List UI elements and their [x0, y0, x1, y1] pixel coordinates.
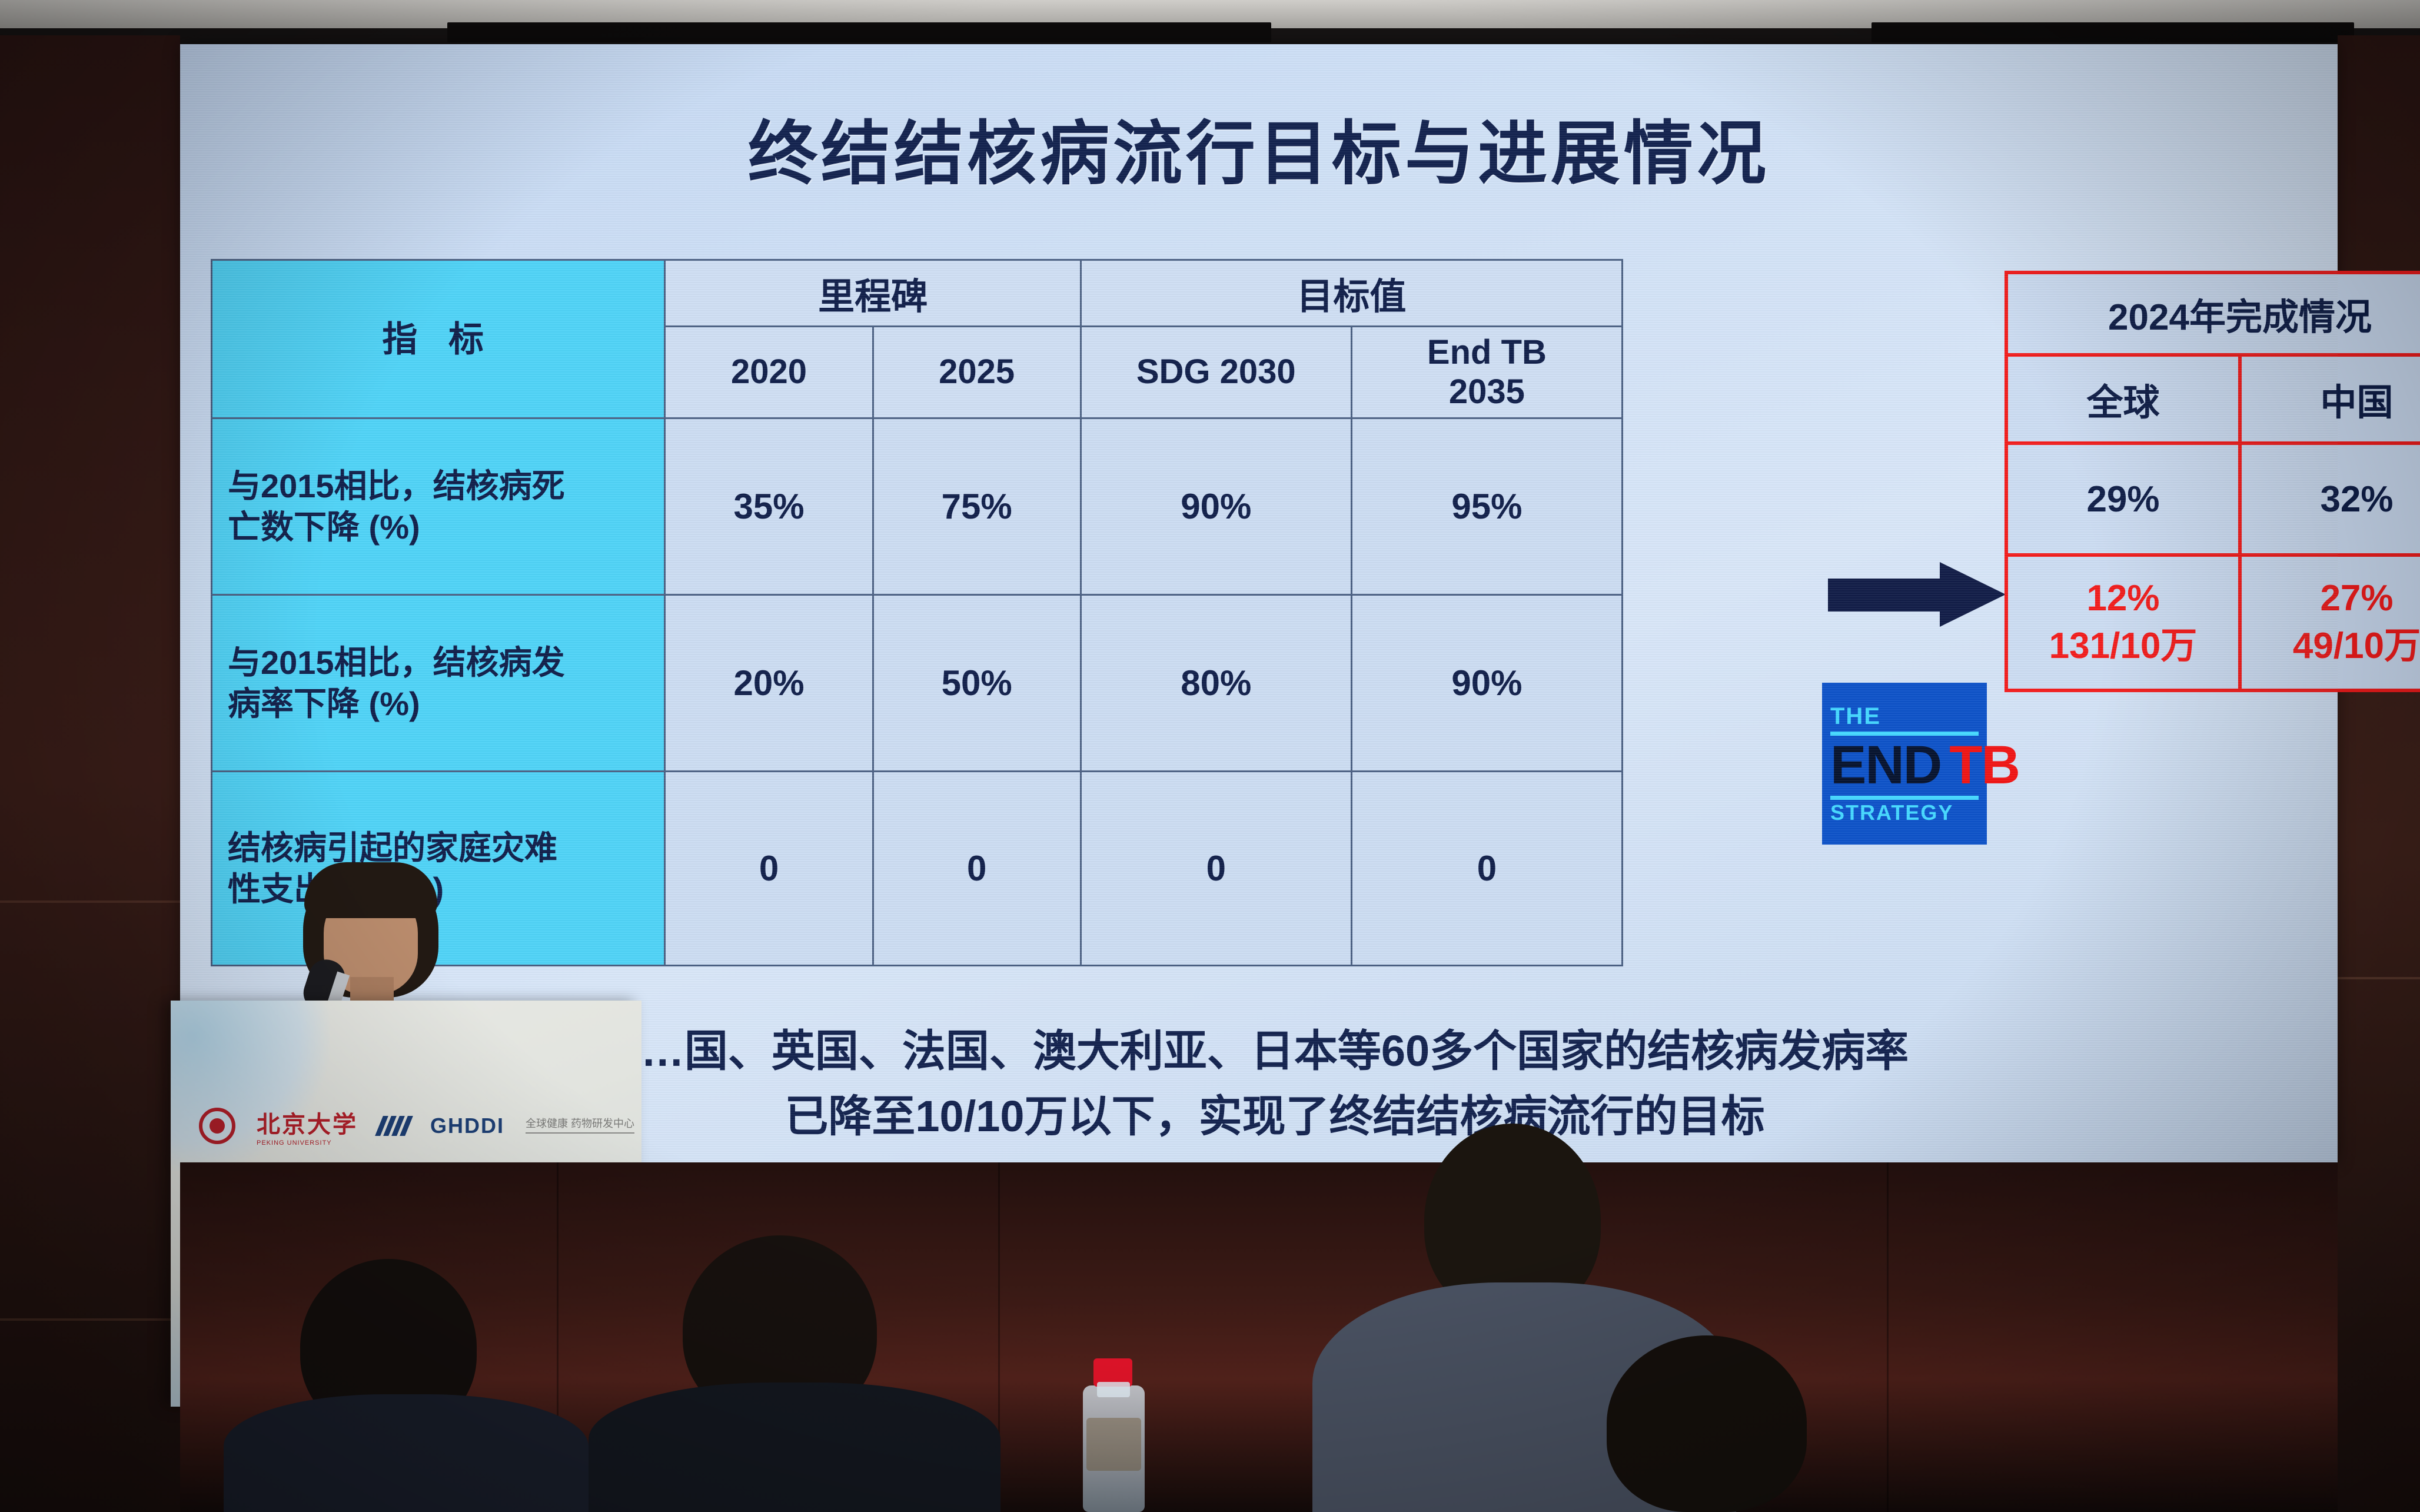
cell-cost-2020: 0 — [665, 772, 873, 966]
global-incidence-rate: 131/10万 — [2049, 626, 2198, 666]
completion-incidence-row: 12% 131/10万 27% 49/10万 — [2006, 555, 2420, 690]
indicator-line-1: 结核病引起的家庭灾难 — [228, 829, 557, 866]
projection-screen: 终结结核病流行目标与进展情况 指 标 里程碑 目标值 2020 2025 SDG… — [180, 44, 2338, 1162]
right-arrow-icon — [1828, 562, 2005, 627]
completion-header-global: 全球 — [2006, 355, 2240, 443]
indicator-line-2: 病率下降 (%) — [228, 685, 420, 722]
completion-title: 2024年完成情况 — [2006, 273, 2420, 355]
china-incidence-pct: 27% — [2320, 578, 2393, 619]
table-row: 与2015相比，结核病死 亡数下降 (%) 35% 75% 90% 95% — [212, 418, 1623, 595]
podium-logo-row: 北京大学 PEKING UNIVERSITY GHDDI 全球健康 药物研发中心 — [199, 1105, 634, 1147]
completion-2024-table: 2024年完成情况 全球 中国 29% 32% 12% 131/10万 27% … — [2005, 271, 2420, 692]
completion-global-incidence: 12% 131/10万 — [2006, 555, 2240, 690]
peking-university-seal-icon — [199, 1108, 235, 1144]
indicator-line-1: 与2015相比，结核病发 — [228, 644, 565, 681]
milestone-table: 指 标 里程碑 目标值 2020 2025 SDG 2030 End TB 20… — [211, 259, 1623, 966]
logo-tb-text: TB — [1949, 738, 2019, 792]
completion-china-incidence: 27% 49/10万 — [2240, 555, 2420, 690]
end-tb-label: End TB — [1427, 333, 1547, 371]
audience-member — [224, 1259, 589, 1512]
sub-header-2025: 2025 — [873, 327, 1081, 418]
group-header-target: 目标值 — [1081, 260, 1622, 327]
group-header-milestone: 里程碑 — [665, 260, 1081, 327]
right-wall — [2338, 35, 2420, 1512]
completion-header-row: 全球 中国 — [2006, 355, 2420, 443]
pku-logo-text: 北京大学 — [257, 1105, 358, 1139]
china-incidence-rate: 49/10万 — [2293, 626, 2420, 666]
cell-incidence-endtb2035: 90% — [1351, 595, 1622, 772]
ceiling-light-strip-right — [1871, 22, 2354, 42]
sub-header-2020: 2020 — [665, 327, 873, 418]
pku-logo-en: PEKING UNIVERSITY — [257, 1139, 358, 1147]
cell-cost-endtb2035: 0 — [1351, 772, 1622, 966]
ceiling-light-strip — [447, 22, 1271, 42]
logo-rule-bottom — [1830, 796, 1979, 800]
left-wall — [0, 35, 180, 1512]
ghddi-mark-icon — [379, 1116, 409, 1136]
slide-title: 终结结核病流行目标与进展情况 — [180, 97, 2338, 198]
logo-the-text: THE — [1830, 705, 1979, 728]
global-incidence-pct: 12% — [2086, 578, 2159, 619]
completion-global-mortality: 29% — [2006, 443, 2240, 555]
cell-incidence-2025: 50% — [873, 595, 1081, 772]
cell-mortality-sdg2030: 90% — [1081, 418, 1351, 595]
sub-header-sdg-2030: SDG 2030 — [1081, 327, 1351, 418]
row-indicator-mortality: 与2015相比，结核病死 亡数下降 (%) — [212, 418, 665, 595]
completion-mortality-row: 29% 32% — [2006, 443, 2420, 555]
ghddi-logo-text: GHDDI — [430, 1114, 504, 1138]
indicator-line-2: 亡数下降 (%) — [228, 509, 420, 546]
end-tb-strategy-logo: THE END TB STRATEGY — [1822, 683, 1987, 845]
cell-cost-2025: 0 — [873, 772, 1081, 966]
water-bottle — [1083, 1385, 1145, 1512]
table-row: 与2015相比，结核病发 病率下降 (%) 20% 50% 80% 90% — [212, 595, 1623, 772]
end-tb-year: 2035 — [1449, 373, 1525, 411]
row-indicator-incidence: 与2015相比，结核病发 病率下降 (%) — [212, 595, 665, 772]
cell-incidence-sdg2030: 80% — [1081, 595, 1351, 772]
cell-mortality-2025: 75% — [873, 418, 1081, 595]
logo-end-text: END — [1830, 738, 1941, 792]
conference-room-photo: 终结结核病流行目标与进展情况 指 标 里程碑 目标值 2020 2025 SDG… — [0, 0, 2420, 1512]
indicator-header: 指 标 — [212, 260, 665, 418]
cell-incidence-2020: 20% — [665, 595, 873, 772]
logo-strategy-text: STRATEGY — [1830, 802, 1979, 823]
completion-header-china: 中国 — [2240, 355, 2420, 443]
audience-member — [589, 1235, 1000, 1512]
table-group-header-row: 指 标 里程碑 目标值 — [212, 260, 1623, 327]
completion-title-row: 2024年完成情况 — [2006, 273, 2420, 355]
indicator-line-1: 与2015相比，结核病死 — [228, 467, 565, 504]
third-partner-logo-text: 全球健康 药物研发中心 — [526, 1118, 634, 1134]
cell-cost-sdg2030: 0 — [1081, 772, 1351, 966]
cell-mortality-2020: 35% — [665, 418, 873, 595]
audience-member — [1507, 1335, 1919, 1512]
cell-mortality-endtb2035: 95% — [1351, 418, 1622, 595]
sub-header-end-tb-2035: End TB 2035 — [1351, 327, 1622, 418]
completion-china-mortality: 32% — [2240, 443, 2420, 555]
